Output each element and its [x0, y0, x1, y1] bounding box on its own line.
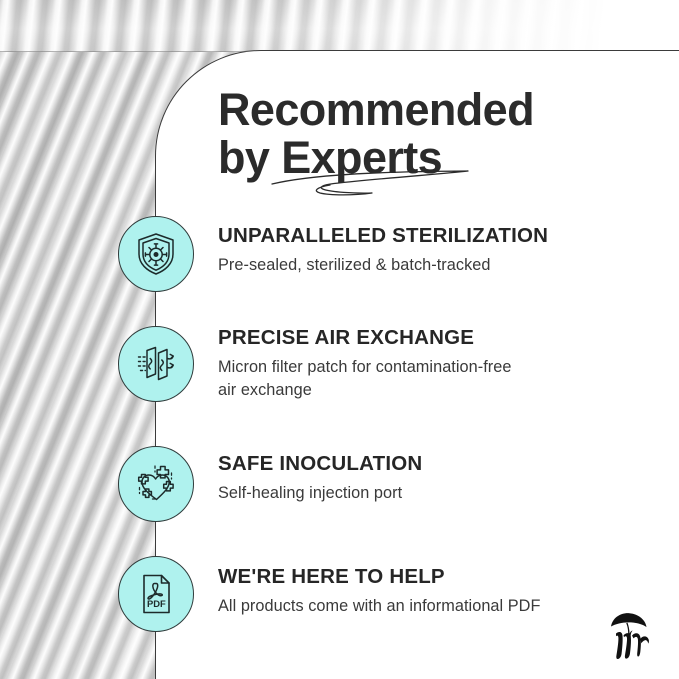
heart-crosses-icon [133, 461, 179, 507]
feature-row-2: PRECISE AIR EXCHANGE Micron filter patch… [218, 326, 648, 402]
feature-desc-1: Pre-sealed, sterilized & batch-tracked [218, 254, 648, 277]
feature-desc-2: Micron filter patch for contamination-fr… [218, 356, 648, 402]
feature-desc-1-line-1: Pre-sealed, sterilized & batch-tracked [218, 256, 490, 274]
feature-desc-3: Self-healing injection port [218, 482, 648, 505]
feature-desc-4: All products come with an informational … [218, 595, 648, 618]
mushroom-m-logo [611, 613, 649, 659]
pdf-icon-label: PDF [147, 598, 166, 609]
page-title-line-2: by Experts [218, 134, 638, 182]
feature-icon-4: PDF [118, 556, 194, 632]
feature-row-1: UNPARALLELED STERILIZATION Pre-sealed, s… [218, 224, 648, 277]
pdf-document-icon: PDF [133, 571, 179, 617]
page-title-line-1: Recommended [218, 86, 638, 134]
feature-row-3: SAFE INOCULATION Self-healing injection … [218, 452, 648, 505]
feature-icon-3 [118, 446, 194, 522]
feature-desc-3-line-1: Self-healing injection port [218, 484, 402, 502]
feature-row-4: WE'RE HERE TO HELP All products come wit… [218, 565, 648, 618]
brand-logo [599, 609, 657, 663]
feature-title-3: SAFE INOCULATION [218, 452, 648, 476]
feature-title-4: WE'RE HERE TO HELP [218, 565, 648, 589]
feature-title-2: PRECISE AIR EXCHANGE [218, 326, 648, 350]
feature-desc-2-line-2: air exchange [218, 379, 648, 402]
infographic-canvas: Recommended by Experts UNPARALLELED STER… [0, 0, 679, 679]
page-title: Recommended by Experts [218, 86, 638, 182]
feature-desc-2-line-1: Micron filter patch for contamination-fr… [218, 358, 511, 376]
shield-virus-icon [133, 231, 179, 277]
air-filter-icon [133, 341, 179, 387]
feature-title-1: UNPARALLELED STERILIZATION [218, 224, 648, 248]
feature-desc-4-line-1: All products come with an informational … [218, 597, 540, 615]
feature-icon-1 [118, 216, 194, 292]
feature-icon-2 [118, 326, 194, 402]
